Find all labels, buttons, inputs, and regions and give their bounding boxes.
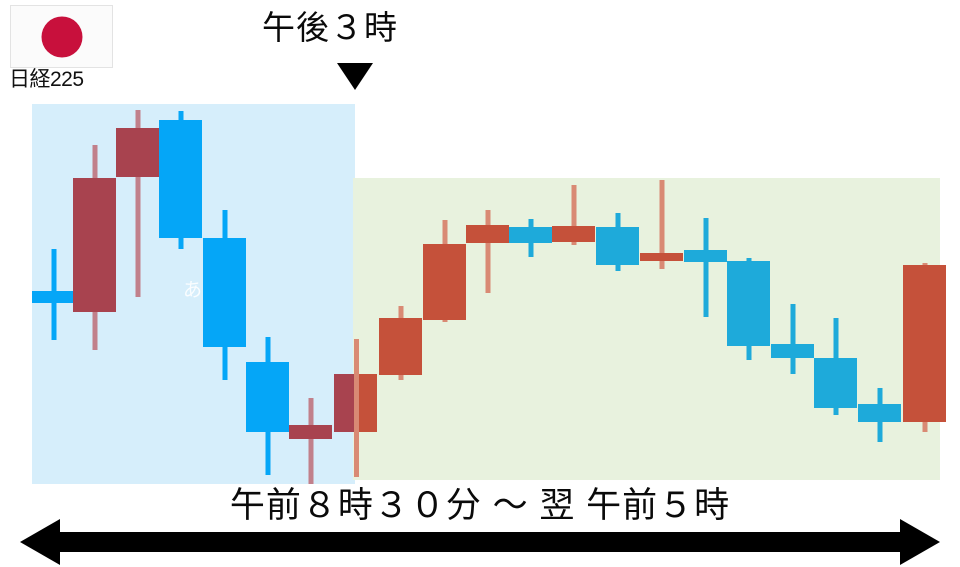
candlestick: [552, 185, 595, 245]
candle-body: [684, 250, 727, 262]
candle-body: [73, 178, 116, 312]
candle-wick: [485, 210, 490, 293]
candle-wick: [308, 398, 313, 484]
candlestick: [203, 210, 246, 380]
candlestick: [379, 306, 422, 380]
candlestick: [32, 249, 75, 340]
candle-body: [246, 362, 289, 432]
candlestick: [684, 218, 727, 317]
candle-wick: [354, 339, 359, 477]
candle-body: [903, 265, 946, 422]
candlestick: [159, 111, 202, 249]
screenshot-root: 日経225 午後３時 あ 午前８時３０分 〜 翌 午前５時: [0, 0, 960, 567]
candlestick: [73, 145, 116, 350]
ime-indicator: あ: [183, 281, 202, 301]
arrow-shaft: [56, 532, 904, 552]
candle-body: [116, 128, 159, 177]
candle-body: [814, 358, 857, 408]
candlestick: [116, 110, 159, 297]
candle-body: [858, 404, 901, 422]
candlestick: [289, 398, 332, 484]
candle-body: [640, 253, 683, 261]
candlestick: [423, 220, 466, 322]
candle-body-left: [334, 374, 355, 432]
candle-body: [423, 244, 466, 320]
candlestick: [466, 210, 509, 293]
candlestick: [640, 180, 683, 269]
candle-body: [596, 227, 639, 265]
candle-body: [552, 226, 595, 242]
candle-body: [289, 425, 332, 439]
candle-body: [466, 225, 509, 243]
candlestick: [334, 339, 377, 477]
candle-body: [32, 291, 75, 303]
candle-body: [203, 238, 246, 347]
candle-wick: [703, 218, 708, 317]
candlestick: [903, 263, 946, 432]
candle-body: [771, 344, 814, 358]
candle-body: [379, 318, 422, 375]
candle-body: [509, 227, 552, 243]
candlestick: [246, 337, 289, 475]
candlestick: [727, 258, 770, 360]
candle-wick: [790, 304, 795, 374]
candlestick: [858, 388, 901, 442]
candlestick: [596, 213, 639, 271]
range-double-arrow-icon: [20, 519, 940, 565]
candle-body: [727, 261, 770, 346]
candle-body: [159, 120, 202, 238]
candlestick: [509, 219, 552, 257]
candlestick: [814, 318, 857, 415]
arrow-head-left: [20, 519, 60, 565]
candlestick: [771, 304, 814, 374]
arrow-head-right: [900, 519, 940, 565]
candlestick-chart: あ: [0, 0, 960, 495]
